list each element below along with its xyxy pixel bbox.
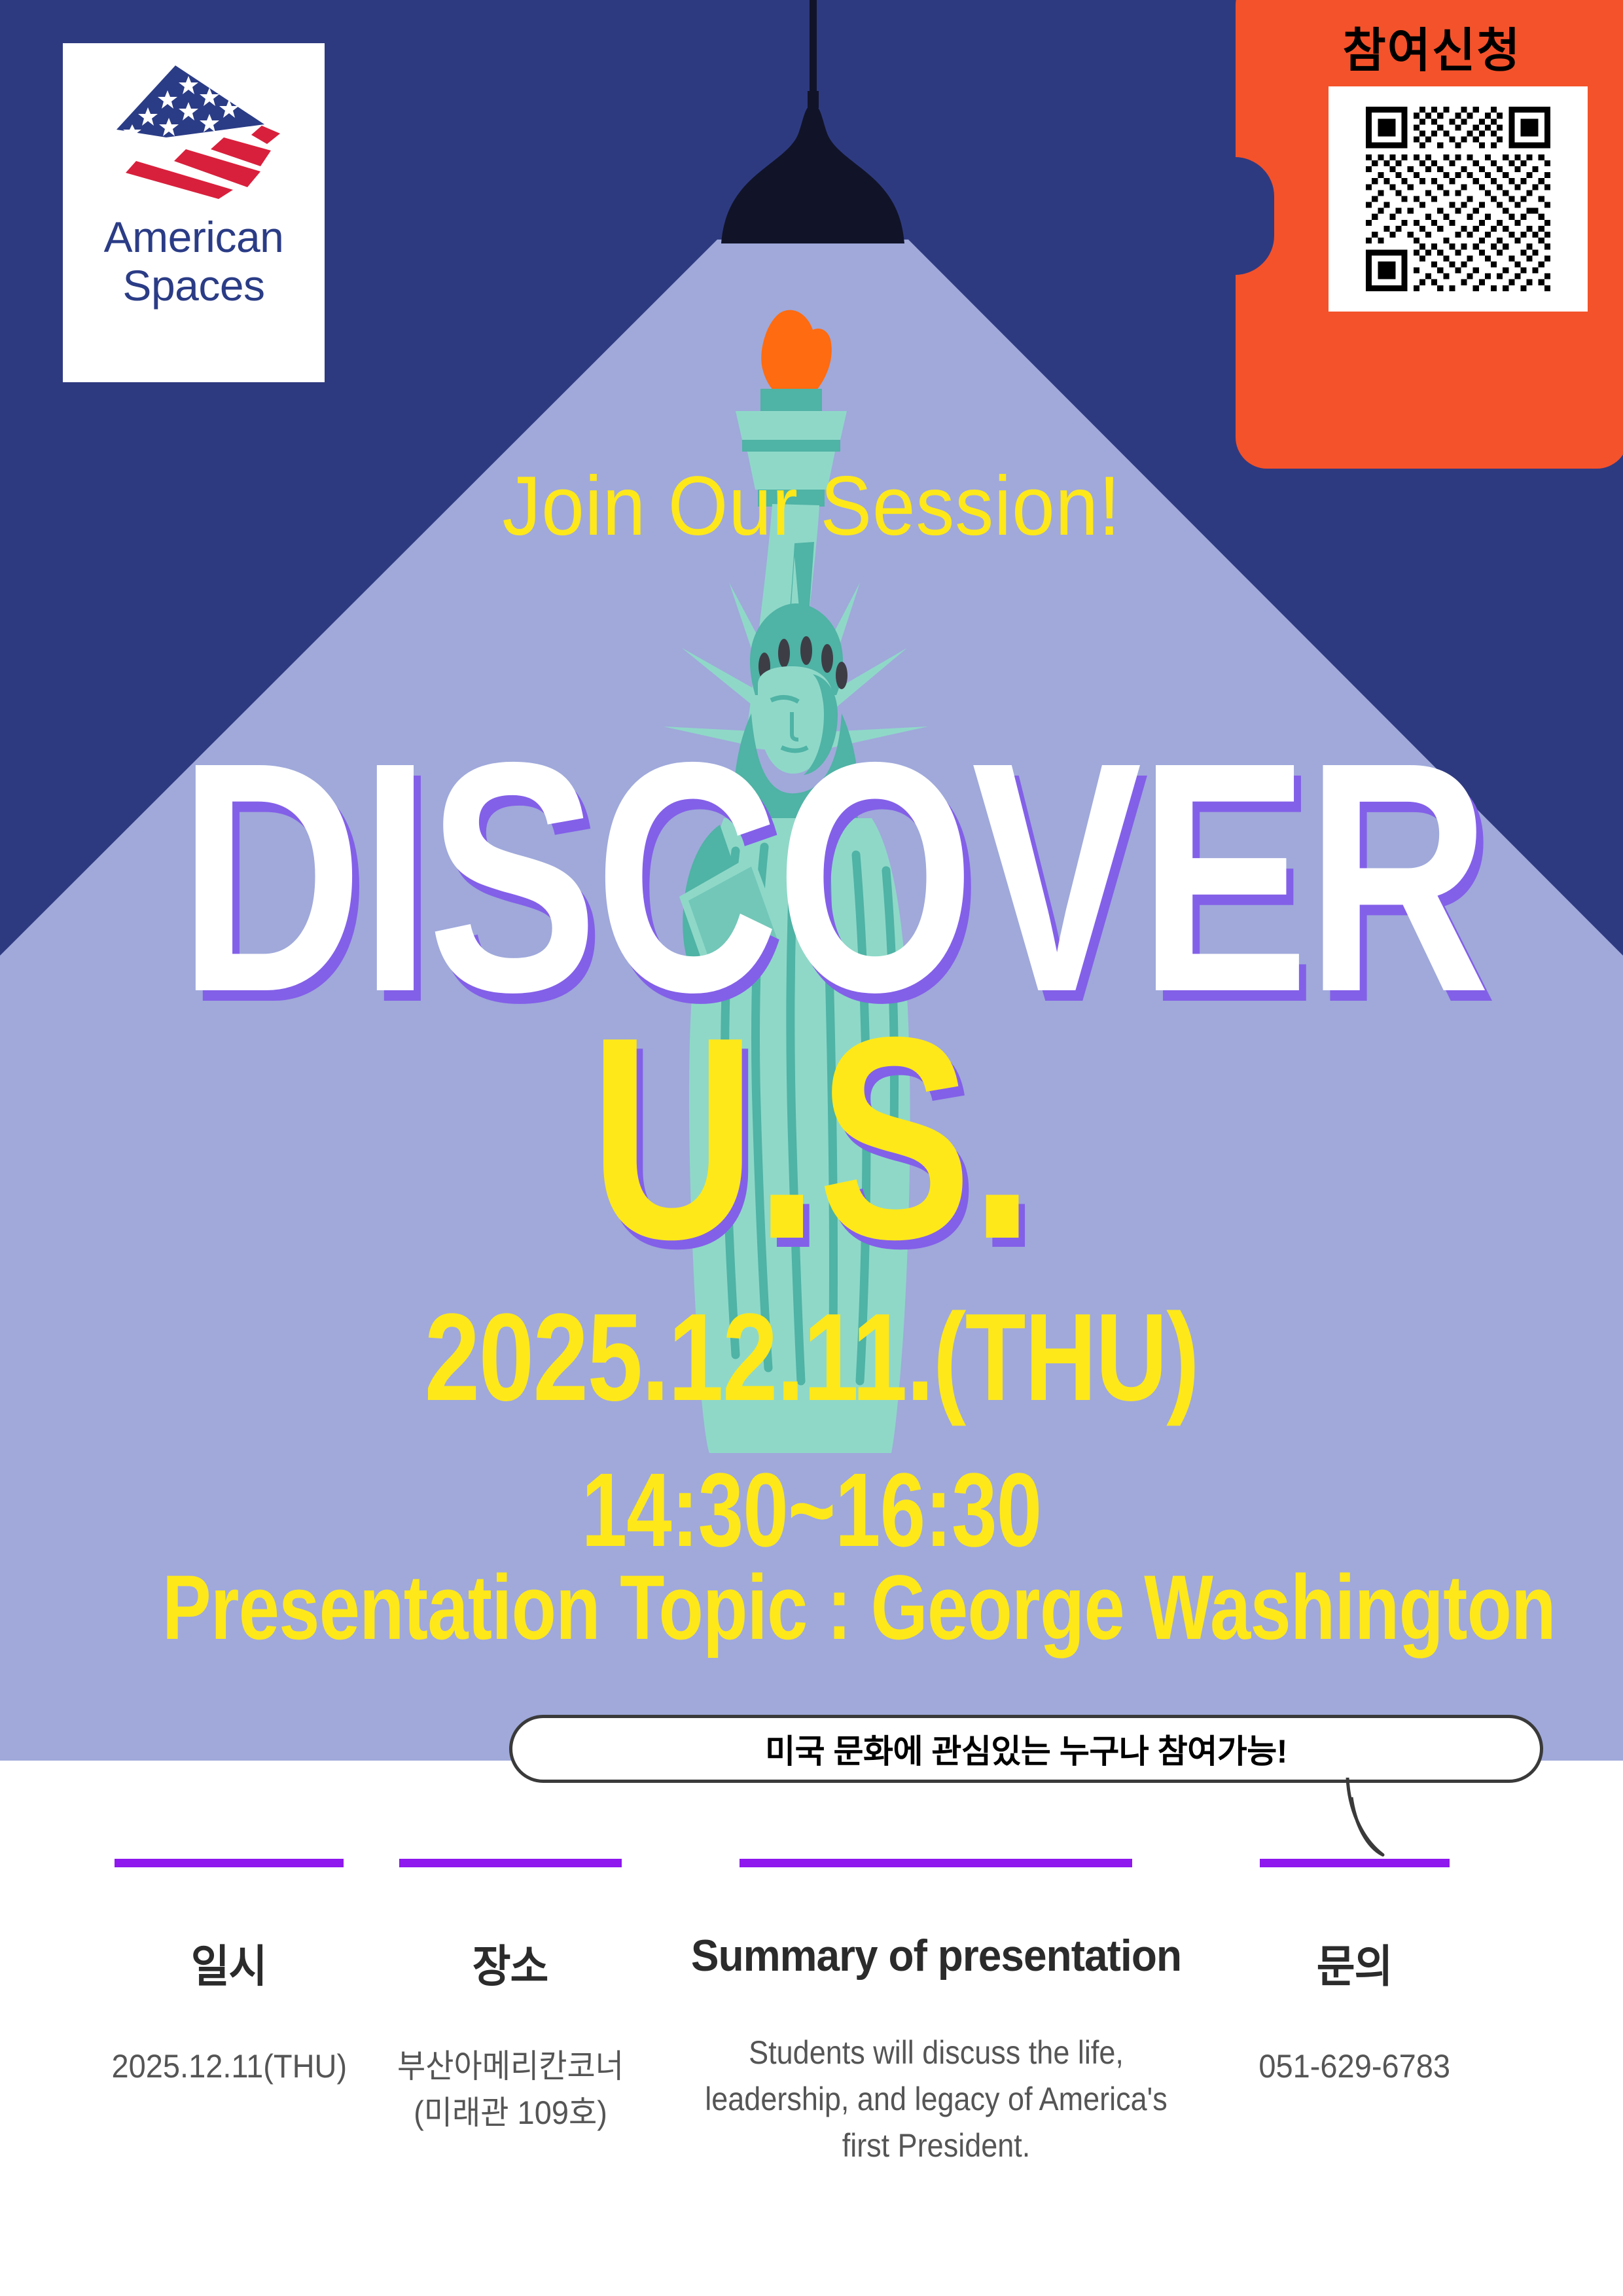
column-heading: 장소	[473, 1930, 548, 1995]
eligibility-text: 미국 문화에 관심있는 누구나 참여가능!	[765, 1725, 1287, 1772]
info-column-summary: Summary of presentation Students will di…	[654, 1859, 1217, 2169]
column-rule	[1260, 1859, 1450, 1867]
info-column-place: 장소 부산아메리칸코너(미래관 109호)	[366, 1859, 654, 2136]
page-subtitle: U.S.	[162, 995, 1461, 1283]
logo-line-1: American	[104, 213, 284, 262]
column-body: Students will discuss the life,leadershi…	[705, 2030, 1168, 2169]
session-kicker: Join Our Session!	[65, 458, 1558, 554]
footer-info: 일시 2025.12.11(THU) 장소 부산아메리칸코너(미래관 109호)…	[0, 1859, 1623, 2225]
speech-bubble-tail	[1345, 1778, 1423, 1864]
ticket-notch	[1235, 157, 1274, 275]
qr-registration-card[interactable]: 참여신청	[1236, 0, 1623, 469]
american-flag-icon	[96, 62, 292, 199]
info-column-contact: 문의 051-629-6783	[1217, 1859, 1492, 2090]
column-heading: Summary of presentation	[690, 1930, 1181, 1981]
column-rule	[115, 1859, 344, 1867]
logo-line-2: Spaces	[104, 262, 284, 310]
event-date-hero: 2025.12.11.(THU)	[162, 1286, 1461, 1429]
column-heading: 문의	[1317, 1930, 1393, 1995]
column-rule	[399, 1859, 622, 1867]
eligibility-callout: 미국 문화에 관심있는 누구나 참여가능!	[509, 1715, 1543, 1783]
event-time-hero: 14:30~16:30	[179, 1450, 1444, 1570]
poster-canvas: American Spaces 참여신청	[0, 0, 1623, 2296]
logo-wordmark: American Spaces	[104, 213, 284, 310]
qr-code-frame[interactable]	[1329, 86, 1588, 312]
qr-card-title: 참여신청	[1236, 12, 1623, 81]
column-body: 부산아메리칸코너(미래관 109호)	[397, 2043, 624, 2136]
column-body: 2025.12.11(THU)	[111, 2043, 347, 2090]
column-rule	[740, 1859, 1132, 1867]
pendant-lamp-icon	[717, 105, 908, 243]
column-body: 051-629-6783	[1259, 2043, 1451, 2090]
qr-code-icon[interactable]	[1360, 101, 1556, 297]
column-heading: 일시	[191, 1930, 267, 1995]
info-column-date: 일시 2025.12.11(THU)	[92, 1859, 366, 2090]
lamp-cord-icon	[810, 0, 817, 92]
american-spaces-logo: American Spaces	[63, 43, 325, 382]
presentation-topic: Presentation Topic : George Washington	[162, 1554, 1461, 1660]
